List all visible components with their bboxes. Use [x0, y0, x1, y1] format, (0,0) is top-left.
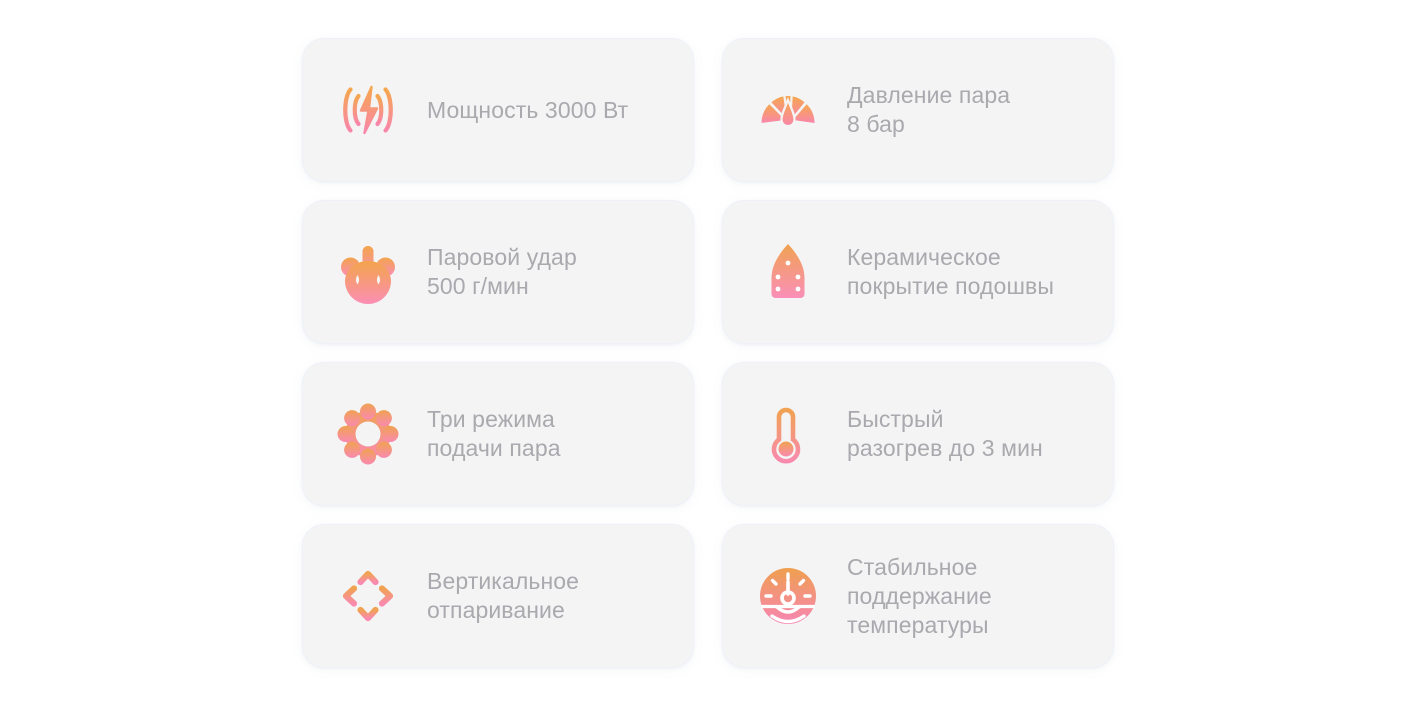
steam-burst-icon: [333, 237, 403, 307]
feature-label: Мощность 3000 Вт: [427, 96, 628, 125]
temperature-dial-icon: [753, 561, 823, 631]
features-grid: Мощность 3000 Вт Давление пара 8 бар: [302, 38, 1114, 668]
feature-card-fast-heat[interactable]: Быстрый разогрев до 3 мин: [722, 362, 1114, 506]
feature-label: Керамическое покрытие подошвы: [847, 243, 1054, 301]
thermometer-icon: [753, 399, 823, 469]
lightning-waves-icon: [333, 75, 403, 145]
pressure-gauge-icon: [753, 75, 823, 145]
feature-card-pressure[interactable]: Давление пара 8 бар: [722, 38, 1114, 182]
iron-soleplate-icon: [753, 237, 823, 307]
feature-label: Вертикальное отпаривание: [427, 567, 579, 625]
feature-card-power[interactable]: Мощность 3000 Вт: [302, 38, 694, 182]
feature-card-stable-temp[interactable]: Стабильное поддержание температуры: [722, 524, 1114, 668]
flower-rosette-icon: [333, 399, 403, 469]
feature-card-soleplate[interactable]: Керамическое покрытие подошвы: [722, 200, 1114, 344]
feature-label: Паровой удар 500 г/мин: [427, 243, 577, 301]
feature-card-vertical-steam[interactable]: Вертикальное отпаривание: [302, 524, 694, 668]
feature-label: Быстрый разогрев до 3 мин: [847, 405, 1043, 463]
feature-label: Давление пара 8 бар: [847, 81, 1010, 139]
feature-label: Стабильное поддержание температуры: [847, 553, 992, 640]
feature-card-steam-burst[interactable]: Паровой удар 500 г/мин: [302, 200, 694, 344]
feature-label: Три режима подачи пара: [427, 405, 561, 463]
feature-card-modes[interactable]: Три режима подачи пара: [302, 362, 694, 506]
move-arrows-icon: [333, 561, 403, 631]
